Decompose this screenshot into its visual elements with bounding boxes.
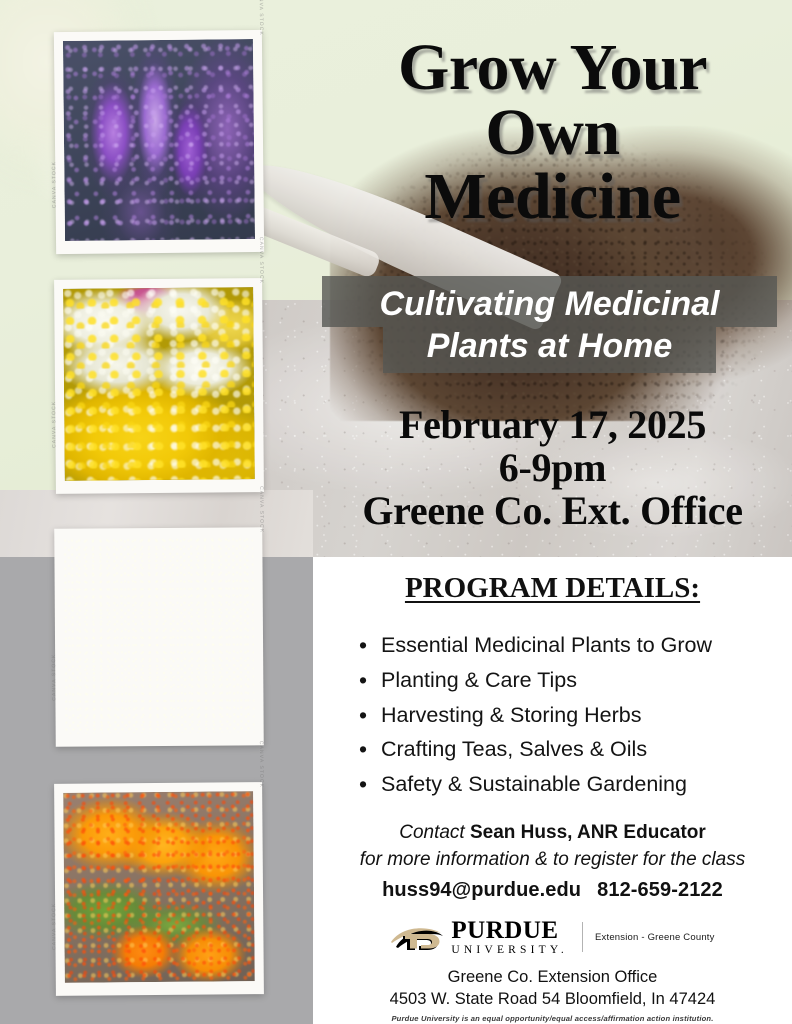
event-location: Greene Co. Ext. Office [313,490,792,533]
list-item: Essential Medicinal Plants to Grow [355,628,775,663]
content-column: Grow Your Own Medicine Cultivating Medic… [313,0,792,1024]
purdue-motion-p-icon [390,921,444,953]
title-line-2: Own [313,101,792,166]
flyer-page: CANVA STOCK CANVA STOCK CANVA STOCK CANV… [0,0,792,1024]
list-item: Planting & Care Tips [355,663,775,698]
footer-office: Greene Co. Extension Office [313,966,792,988]
flyer-title: Grow Your Own Medicine [313,36,792,230]
event-time: 6-9pm [313,447,792,490]
contact-person: Sean Huss, ANR Educator [470,822,706,843]
contact-line-2: for more information & to register for t… [313,847,792,874]
event-date: February 17, 2025 [313,404,792,447]
contact-block: Contact Sean Huss, ANR Educator for more… [313,820,792,906]
photo-inner-mums [63,287,255,481]
photo-inner-butterflyweed [63,791,255,983]
photo-magenta-clematis: CANVA STOCK CANVA STOCK [54,527,264,746]
photo-inner-salvia [63,39,255,241]
event-datetime-location: February 17, 2025 6-9pm Greene Co. Ext. … [313,404,792,532]
purdue-name: PURDUE [451,918,568,943]
image-chrysanthemum-flowers [63,287,255,481]
footer-disclaimer: Purdue University is an equal opportunit… [313,1014,792,1023]
image-clematis-flowers [63,536,254,733]
footer-address: 4503 W. State Road 54 Bloomfield, In 474… [313,988,792,1010]
photo-watermark: CANVA STOCK [258,486,264,533]
photo-watermark: CANVA STOCK [257,0,263,36]
photo-orange-butterfly-weed: CANVA STOCK CANVA STOCK [54,782,264,996]
purdue-logo: PURDUE UNIVERSITY. Extension - Greene Co… [313,918,792,957]
contact-prefix: Contact [399,822,470,843]
flyer-subtitle-banner: Cultivating Medicinal Plants at Home [313,276,792,373]
list-item: Safety & Sustainable Gardening [355,767,775,802]
contact-phone[interactable]: 812-659-2122 [597,879,723,901]
photo-watermark: CANVA STOCK [258,741,264,788]
photo-watermark: CANVA STOCK [51,903,57,950]
photo-watermark: CANVA STOCK [51,654,57,701]
contact-line-3: huss94@purdue.edu812-659-2122 [313,874,792,906]
logo-divider [582,922,583,952]
subtitle-line-1: Cultivating Medicinal [322,276,777,327]
list-item: Crafting Teas, Salves & Oils [355,732,775,767]
image-purple-salvia-flowers [63,39,255,241]
image-butterfly-weed-flowers [63,791,255,983]
contact-line-1: Contact Sean Huss, ANR Educator [313,820,792,847]
photo-yellow-white-mums: CANVA STOCK CANVA STOCK [54,278,264,494]
photo-watermark: CANVA STOCK [258,237,264,284]
photo-watermark: CANVA STOCK [51,161,57,208]
photo-inner-clematis [63,536,254,733]
contact-email[interactable]: huss94@purdue.edu [382,879,581,901]
photo-purple-salvia: CANVA STOCK CANVA STOCK [54,30,264,254]
title-line-1: Grow Your [313,36,792,101]
purdue-wordmark: PURDUE UNIVERSITY. [451,918,568,957]
title-line-3: Medicine [313,165,792,230]
photo-watermark: CANVA STOCK [51,401,57,448]
extension-county-label: Extension - Greene County [595,932,715,943]
purdue-university-name: UNIVERSITY. [451,945,568,957]
list-item: Harvesting & Storing Herbs [355,698,775,733]
subtitle-line-2: Plants at Home [383,327,716,373]
program-details-list: Essential Medicinal Plants to Grow Plant… [355,628,775,802]
program-details-heading: PROGRAM DETAILS: [313,572,792,605]
footer-block: Greene Co. Extension Office 4503 W. Stat… [313,966,792,1023]
